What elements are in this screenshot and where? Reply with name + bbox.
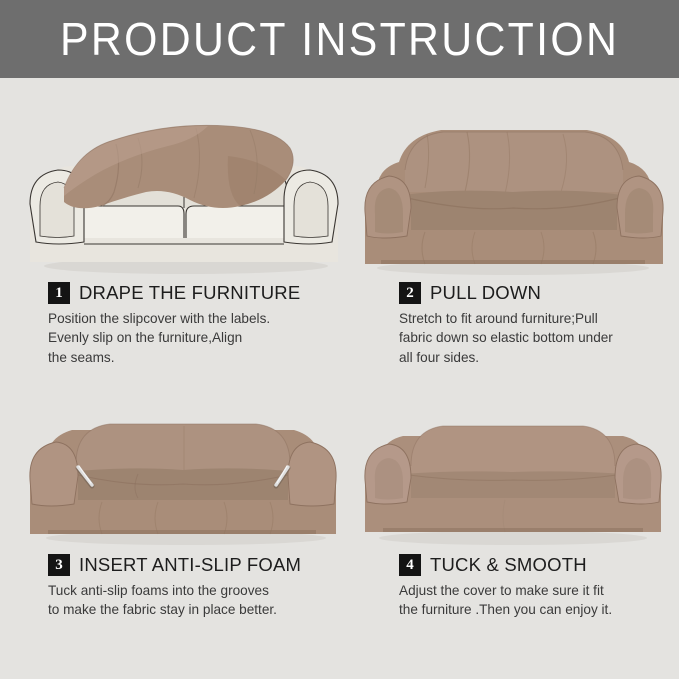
step-3-body: Tuck anti-slip foams into the grooves to…: [48, 581, 344, 620]
step-number-badge-3: 3: [48, 554, 70, 576]
step-1-image: [18, 96, 348, 278]
sofa-smooth-finished-illustration: [355, 368, 671, 550]
step-number-badge-4: 4: [399, 554, 421, 576]
step-3-caption: 3 INSERT ANTI-SLIP FOAM Tuck anti-slip f…: [18, 554, 348, 620]
step-2-title: PULL DOWN: [430, 282, 541, 304]
header-banner: PRODUCT INSTRUCTION: [0, 0, 679, 78]
step-1-title: DRAPE THE FURNITURE: [79, 282, 300, 304]
step-3-image: [18, 368, 348, 550]
step-card-3: 3 INSERT ANTI-SLIP FOAM Tuck anti-slip f…: [18, 368, 348, 638]
step-2-body: Stretch to fit around furniture;Pull fab…: [399, 309, 667, 367]
step-number-badge-1: 1: [48, 282, 70, 304]
step-4-title: TUCK & SMOOTH: [430, 554, 587, 576]
step-4-heading: 4 TUCK & SMOOTH: [399, 554, 671, 576]
step-1-heading: 1 DRAPE THE FURNITURE: [48, 282, 348, 304]
step-card-4: 4 TUCK & SMOOTH Adjust the cover to make…: [355, 368, 671, 638]
sofa-with-foam-inserts-illustration: [18, 368, 348, 550]
step-card-2: 2 PULL DOWN Stretch to fit around furnit…: [355, 96, 671, 366]
steps-grid: 1 DRAPE THE FURNITURE Position the slipc…: [0, 78, 679, 679]
step-3-title: INSERT ANTI-SLIP FOAM: [79, 554, 301, 576]
step-4-image: [355, 368, 671, 550]
page-title: PRODUCT INSTRUCTION: [60, 12, 619, 66]
step-1-caption: 1 DRAPE THE FURNITURE Position the slipc…: [18, 282, 348, 367]
step-2-image: [355, 96, 671, 278]
sofa-fully-covered-loose-illustration: [355, 96, 671, 278]
step-1-body: Position the slipcover with the labels. …: [48, 309, 344, 367]
step-4-body: Adjust the cover to make sure it fit the…: [399, 581, 667, 620]
step-number-badge-2: 2: [399, 282, 421, 304]
step-4-caption: 4 TUCK & SMOOTH Adjust the cover to make…: [367, 554, 671, 620]
step-card-1: 1 DRAPE THE FURNITURE Position the slipc…: [18, 96, 348, 366]
step-2-caption: 2 PULL DOWN Stretch to fit around furnit…: [367, 282, 671, 367]
sofa-draped-partially-illustration: [18, 96, 348, 278]
step-3-heading: 3 INSERT ANTI-SLIP FOAM: [48, 554, 348, 576]
step-2-heading: 2 PULL DOWN: [399, 282, 671, 304]
